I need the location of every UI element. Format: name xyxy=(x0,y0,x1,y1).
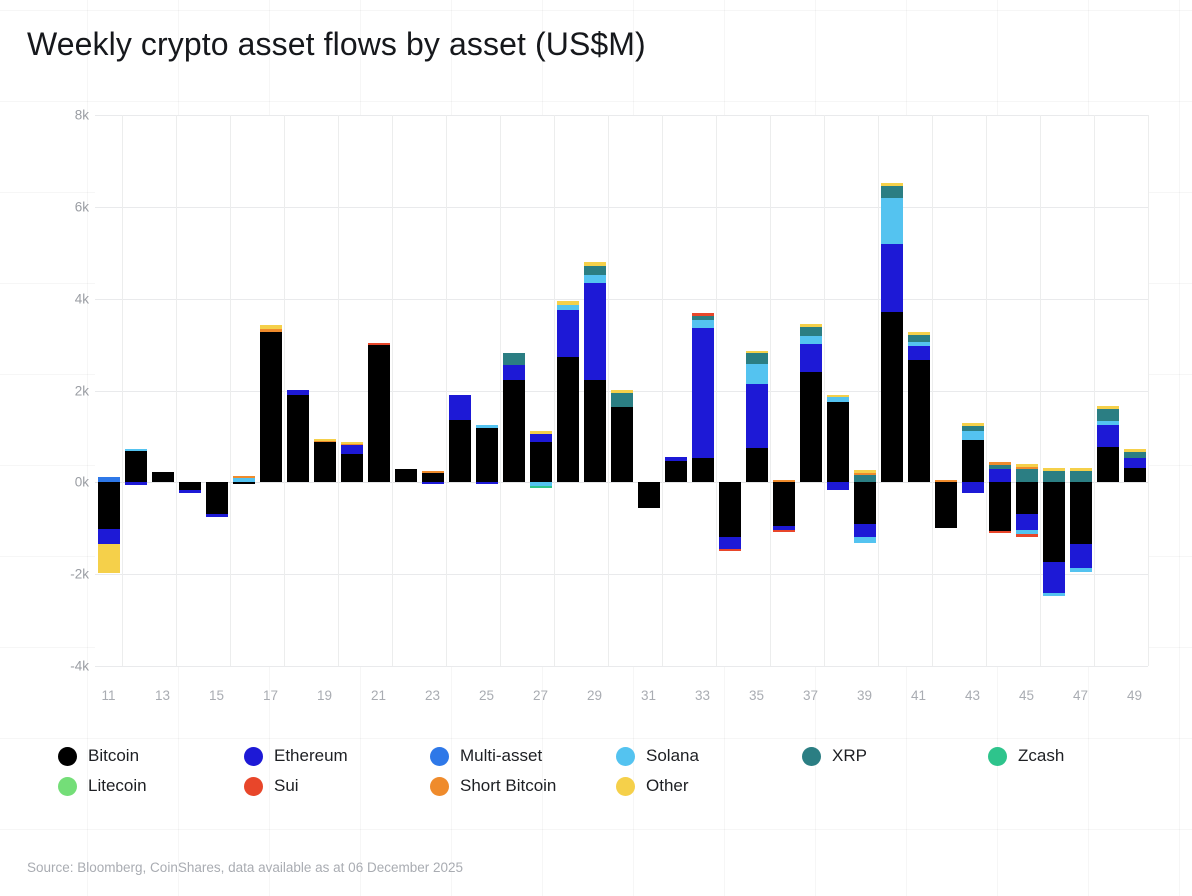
gridline-vertical xyxy=(122,115,123,666)
bar-segment-other xyxy=(98,544,120,572)
bar-segment-other xyxy=(260,325,282,328)
bar-segment-ethereum xyxy=(908,346,930,360)
bar-segment-xrp xyxy=(584,266,606,275)
bar-segment-other xyxy=(854,470,876,473)
gridline-vertical xyxy=(554,115,555,666)
gridline-vertical xyxy=(446,115,447,666)
bar-week-40[interactable] xyxy=(881,115,903,666)
bar-segment-bitcoin xyxy=(152,472,174,483)
bar-segment-bitcoin xyxy=(1124,468,1146,483)
bar-segment-xrp xyxy=(692,316,714,321)
bar-segment-bitcoin xyxy=(746,448,768,482)
bar-segment-bitcoin xyxy=(1097,447,1119,482)
bar-segment-solana xyxy=(881,198,903,244)
gridline-vertical xyxy=(608,115,609,666)
x-axis-tick-label: 27 xyxy=(533,688,548,703)
bar-segment-sui xyxy=(719,549,741,552)
bar-week-24[interactable] xyxy=(449,115,471,666)
legend-label: Solana xyxy=(646,746,699,766)
bar-segment-bitcoin xyxy=(827,402,849,482)
legend-label: Short Bitcoin xyxy=(460,776,556,796)
gridline-vertical xyxy=(986,115,987,666)
bar-week-43[interactable] xyxy=(962,115,984,666)
bar-week-23[interactable] xyxy=(422,115,444,666)
legend-label: Zcash xyxy=(1018,746,1064,766)
bar-segment-xrp xyxy=(908,335,930,342)
bar-week-18[interactable] xyxy=(287,115,309,666)
bar-week-12[interactable] xyxy=(125,115,147,666)
bar-week-47[interactable] xyxy=(1070,115,1092,666)
bar-segment-ethereum xyxy=(341,445,363,453)
bar-segment-ethereum xyxy=(854,524,876,538)
legend-swatch-bitcoin-icon xyxy=(58,747,77,766)
x-axis-tick-label: 23 xyxy=(425,688,440,703)
bar-segment-ethereum xyxy=(584,283,606,380)
legend-swatch-sui-icon xyxy=(244,777,263,796)
bar-segment-solana xyxy=(746,364,768,383)
bar-week-20[interactable] xyxy=(341,115,363,666)
x-axis-tick-label: 31 xyxy=(641,688,656,703)
bar-segment-ethereum xyxy=(422,482,444,484)
bar-segment-other xyxy=(1070,468,1092,471)
gridline-vertical xyxy=(824,115,825,666)
bar-segment-bitcoin xyxy=(422,473,444,483)
bar-week-32[interactable] xyxy=(665,115,687,666)
legend-swatch-other-icon xyxy=(616,777,635,796)
bar-week-19[interactable] xyxy=(314,115,336,666)
bar-week-33[interactable] xyxy=(692,115,714,666)
bar-week-44[interactable] xyxy=(989,115,1011,666)
legend-item-litecoin[interactable]: Litecoin xyxy=(58,771,147,801)
y-axis-tick-label: 6k xyxy=(29,199,89,214)
bar-week-37[interactable] xyxy=(800,115,822,666)
x-axis-tick-label: 17 xyxy=(263,688,278,703)
bar-week-13[interactable] xyxy=(152,115,174,666)
bar-segment-bitcoin xyxy=(611,407,633,483)
bar-segment-xrp xyxy=(1124,452,1146,458)
bar-segment-other xyxy=(611,390,633,393)
bar-segment-bitcoin xyxy=(206,482,228,514)
bar-segment-ethereum xyxy=(962,482,984,493)
bar-segment-ethereum xyxy=(1043,562,1065,593)
bar-segment-short-bitcoin xyxy=(854,473,876,475)
bar-segment-short-bitcoin xyxy=(233,476,255,478)
bar-segment-ethereum xyxy=(665,457,687,461)
x-axis-tick-label: 21 xyxy=(371,688,386,703)
bar-segment-ethereum xyxy=(557,310,579,357)
bar-segment-xrp xyxy=(989,465,1011,470)
bar-segment-other xyxy=(530,431,552,434)
bar-segment-short-bitcoin xyxy=(989,462,1011,465)
legend-item-ethereum[interactable]: Ethereum xyxy=(244,741,348,771)
page-title: Weekly crypto asset flows by asset (US$M… xyxy=(27,26,646,63)
gridline-vertical xyxy=(770,115,771,666)
bar-segment-ethereum xyxy=(800,344,822,372)
y-axis-tick-label: -2k xyxy=(29,567,89,582)
gridline-vertical xyxy=(284,115,285,666)
legend-swatch-litecoin-icon xyxy=(58,777,77,796)
chart-legend: BitcoinEthereumMulti-assetSolanaXRPZcash… xyxy=(58,741,1138,801)
bar-segment-bitcoin xyxy=(503,380,525,482)
bar-segment-ethereum xyxy=(719,537,741,549)
legend-item-multi-asset[interactable]: Multi-asset xyxy=(430,741,542,771)
bar-segment-bitcoin xyxy=(935,482,957,528)
gridline-vertical xyxy=(662,115,663,666)
bar-week-48[interactable] xyxy=(1097,115,1119,666)
bar-segment-other xyxy=(746,351,768,354)
x-axis-tick-label: 29 xyxy=(587,688,602,703)
bar-segment-bitcoin xyxy=(530,442,552,482)
bar-week-45[interactable] xyxy=(1016,115,1038,666)
bar-segment-ethereum xyxy=(1070,544,1092,568)
gridline-vertical xyxy=(932,115,933,666)
gridline-vertical xyxy=(1040,115,1041,666)
x-axis-tick-label: 41 xyxy=(911,688,926,703)
bar-segment-bitcoin xyxy=(1070,482,1092,544)
legend-label: Sui xyxy=(274,776,299,796)
plot-area xyxy=(95,115,1148,666)
bar-segment-ethereum xyxy=(692,328,714,458)
bar-segment-short-bitcoin xyxy=(341,444,363,446)
bar-segment-xrp xyxy=(1043,471,1065,482)
bar-segment-ethereum xyxy=(1097,425,1119,447)
bar-segment-other xyxy=(800,324,822,327)
legend-item-xrp[interactable]: XRP xyxy=(802,741,867,771)
gridline-vertical xyxy=(176,115,177,666)
bar-segment-bitcoin xyxy=(665,461,687,483)
legend-label: Bitcoin xyxy=(88,746,139,766)
bar-segment-xrp xyxy=(854,475,876,483)
gridline-vertical xyxy=(1148,115,1149,666)
bar-segment-ethereum xyxy=(98,529,120,544)
bar-week-26[interactable] xyxy=(503,115,525,666)
legend-swatch-short-bitcoin-icon xyxy=(430,777,449,796)
bar-segment-solana xyxy=(854,537,876,543)
x-axis-tick-label: 11 xyxy=(101,688,115,703)
bar-segment-short-bitcoin xyxy=(422,471,444,473)
bar-segment-solana xyxy=(827,397,849,403)
bar-segment-bitcoin xyxy=(98,482,120,529)
y-axis-tick-label: -4k xyxy=(29,659,89,674)
bar-segment-sui xyxy=(773,530,795,532)
x-axis-tick-label: 49 xyxy=(1127,688,1142,703)
bar-segment-sui xyxy=(1016,534,1038,536)
x-axis-tick-label: 25 xyxy=(479,688,494,703)
bar-week-38[interactable] xyxy=(827,115,849,666)
legend-label: Litecoin xyxy=(88,776,147,796)
legend-label: Ethereum xyxy=(274,746,348,766)
bar-week-25[interactable] xyxy=(476,115,498,666)
bar-segment-xrp xyxy=(1070,471,1092,482)
legend-label: Multi-asset xyxy=(460,746,542,766)
bar-segment-bitcoin xyxy=(125,451,147,482)
x-axis-tick-label: 39 xyxy=(857,688,872,703)
bar-segment-ethereum xyxy=(476,482,498,484)
bar-segment-bitcoin xyxy=(449,420,471,482)
bar-week-29[interactable] xyxy=(584,115,606,666)
bar-segment-ethereum xyxy=(1124,458,1146,467)
x-axis-tick-label: 19 xyxy=(317,688,332,703)
x-axis-tick-label: 37 xyxy=(803,688,818,703)
x-axis-tick-label: 47 xyxy=(1073,688,1088,703)
gridline-vertical xyxy=(878,115,879,666)
bar-segment-bitcoin xyxy=(800,372,822,482)
bar-segment-solana xyxy=(908,342,930,346)
bar-segment-xrp xyxy=(800,327,822,336)
bar-week-27[interactable] xyxy=(530,115,552,666)
bar-segment-ethereum xyxy=(989,469,1011,482)
gridline-vertical xyxy=(500,115,501,666)
bar-segment-sui xyxy=(989,531,1011,533)
bar-segment-xrp xyxy=(503,353,525,364)
bar-segment-ethereum xyxy=(125,482,147,485)
bar-week-21[interactable] xyxy=(368,115,390,666)
gridline-vertical xyxy=(338,115,339,666)
legend-item-bitcoin[interactable]: Bitcoin xyxy=(58,741,139,771)
legend-item-short-bitcoin[interactable]: Short Bitcoin xyxy=(430,771,556,801)
bar-segment-bitcoin xyxy=(287,395,309,482)
bar-segment-short-bitcoin xyxy=(773,480,795,482)
bar-segment-solana xyxy=(1070,568,1092,572)
bar-week-15[interactable] xyxy=(206,115,228,666)
bar-week-17[interactable] xyxy=(260,115,282,666)
bar-segment-bitcoin xyxy=(395,469,417,483)
bar-segment-other xyxy=(1043,468,1065,471)
bar-segment-solana xyxy=(584,275,606,282)
bar-segment-xrp xyxy=(1016,469,1038,482)
bar-week-34[interactable] xyxy=(719,115,741,666)
bar-segment-solana xyxy=(1097,421,1119,425)
bar-segment-solana xyxy=(692,320,714,327)
bar-segment-other xyxy=(314,439,336,441)
bar-segment-other xyxy=(962,423,984,426)
gridline-vertical xyxy=(716,115,717,666)
bar-segment-ethereum xyxy=(206,514,228,517)
bar-week-42[interactable] xyxy=(935,115,957,666)
bar-segment-solana xyxy=(125,449,147,452)
x-axis-tick-label: 35 xyxy=(749,688,764,703)
bar-segment-xrp xyxy=(611,393,633,407)
gridline-vertical xyxy=(392,115,393,666)
bar-segment-ethereum xyxy=(827,482,849,489)
bar-segment-other xyxy=(1097,406,1119,409)
bar-week-41[interactable] xyxy=(908,115,930,666)
bar-week-49[interactable] xyxy=(1124,115,1146,666)
bar-segment-bitcoin xyxy=(962,440,984,483)
bar-segment-bitcoin xyxy=(908,360,930,482)
bar-week-30[interactable] xyxy=(611,115,633,666)
bar-segment-bitcoin xyxy=(557,357,579,482)
bar-segment-other xyxy=(1016,464,1038,467)
gridline-horizontal xyxy=(95,666,1148,667)
bar-segment-zcash xyxy=(530,486,552,488)
bar-segment-bitcoin xyxy=(692,458,714,482)
bar-week-14[interactable] xyxy=(179,115,201,666)
x-axis-tick-label: 43 xyxy=(965,688,980,703)
bar-segment-bitcoin xyxy=(1043,482,1065,562)
legend-item-other[interactable]: Other xyxy=(616,771,689,801)
bar-segment-bitcoin xyxy=(341,454,363,482)
bar-segment-solana xyxy=(233,478,255,483)
bar-segment-other xyxy=(584,262,606,266)
chart-figure: Weekly crypto asset flows by asset (US$M… xyxy=(0,0,1192,896)
bar-segment-ethereum xyxy=(287,390,309,396)
legend-swatch-ethereum-icon xyxy=(244,747,263,766)
bar-segment-ethereum xyxy=(1016,514,1038,529)
bar-segment-solana xyxy=(1043,593,1065,596)
y-axis-tick-label: 2k xyxy=(29,383,89,398)
bar-segment-solana xyxy=(557,305,579,311)
x-axis-tick-label: 33 xyxy=(695,688,710,703)
bar-segment-xrp xyxy=(962,426,984,431)
bar-segment-bitcoin xyxy=(638,482,660,508)
bar-week-28[interactable] xyxy=(557,115,579,666)
bar-segment-ethereum xyxy=(746,384,768,449)
bar-segment-ethereum xyxy=(503,365,525,380)
bar-segment-xrp xyxy=(1097,409,1119,421)
bar-segment-bitcoin xyxy=(314,442,336,482)
bar-segment-ethereum xyxy=(179,490,201,493)
bar-segment-bitcoin xyxy=(233,482,255,484)
bar-segment-bitcoin xyxy=(584,380,606,482)
bar-segment-short-bitcoin xyxy=(314,441,336,443)
legend-row: BitcoinEthereumMulti-assetSolanaXRPZcash xyxy=(58,741,1138,771)
legend-swatch-xrp-icon xyxy=(802,747,821,766)
bar-segment-bitcoin xyxy=(368,345,390,482)
legend-row: LitecoinSuiShort BitcoinOther xyxy=(58,771,1138,801)
y-axis-tick-label: 4k xyxy=(29,291,89,306)
bar-segment-bitcoin xyxy=(179,482,201,490)
y-axis-tick-label: 8k xyxy=(29,108,89,123)
legend-swatch-multi-asset-icon xyxy=(430,747,449,766)
bar-week-36[interactable] xyxy=(773,115,795,666)
bar-week-31[interactable] xyxy=(638,115,660,666)
bar-week-16[interactable] xyxy=(233,115,255,666)
gridline-vertical xyxy=(1094,115,1095,666)
bar-segment-solana xyxy=(476,425,498,428)
bar-segment-multi-asset xyxy=(98,477,120,483)
legend-label: Other xyxy=(646,776,689,796)
x-axis-tick-label: 13 xyxy=(155,688,170,703)
bar-segment-xrp xyxy=(881,186,903,197)
x-axis-tick-label: 15 xyxy=(209,688,224,703)
bar-segment-ethereum xyxy=(881,244,903,313)
gridline-vertical xyxy=(230,115,231,666)
bar-week-22[interactable] xyxy=(395,115,417,666)
bar-segment-short-bitcoin xyxy=(935,480,957,482)
bar-segment-bitcoin xyxy=(260,332,282,482)
bar-week-11[interactable] xyxy=(98,115,120,666)
legend-item-solana[interactable]: Solana xyxy=(616,741,699,771)
bar-segment-bitcoin xyxy=(719,482,741,536)
bar-segment-other xyxy=(908,332,930,336)
bar-segment-other xyxy=(341,442,363,444)
bar-week-39[interactable] xyxy=(854,115,876,666)
bar-week-35[interactable] xyxy=(746,115,768,666)
bar-segment-short-bitcoin xyxy=(260,329,282,333)
bar-segment-ethereum xyxy=(449,395,471,421)
bar-segment-sui xyxy=(368,343,390,345)
bar-segment-bitcoin xyxy=(1016,482,1038,514)
bar-segment-other xyxy=(557,301,579,304)
source-note: Source: Bloomberg, CoinShares, data avai… xyxy=(27,860,463,875)
legend-item-sui[interactable]: Sui xyxy=(244,771,299,801)
bar-segment-bitcoin xyxy=(989,482,1011,531)
bar-segment-bitcoin xyxy=(881,312,903,482)
bar-segment-bitcoin xyxy=(854,482,876,523)
y-axis-tick-label: 0k xyxy=(29,475,89,490)
bar-week-46[interactable] xyxy=(1043,115,1065,666)
bar-segment-bitcoin xyxy=(773,482,795,526)
legend-swatch-zcash-icon xyxy=(988,747,1007,766)
bar-segment-other xyxy=(827,395,849,397)
bar-segment-solana xyxy=(962,431,984,440)
bar-segment-xrp xyxy=(746,353,768,364)
bar-segment-other xyxy=(881,183,903,186)
bar-segment-solana xyxy=(800,336,822,344)
legend-label: XRP xyxy=(832,746,867,766)
bar-segment-other xyxy=(1124,449,1146,452)
bar-segment-bitcoin xyxy=(476,428,498,482)
bar-segment-short-bitcoin xyxy=(1016,467,1038,470)
x-axis-tick-label: 45 xyxy=(1019,688,1034,703)
legend-item-zcash[interactable]: Zcash xyxy=(988,741,1064,771)
bar-segment-ethereum xyxy=(530,434,552,442)
legend-swatch-solana-icon xyxy=(616,747,635,766)
bar-segment-sui xyxy=(692,313,714,315)
